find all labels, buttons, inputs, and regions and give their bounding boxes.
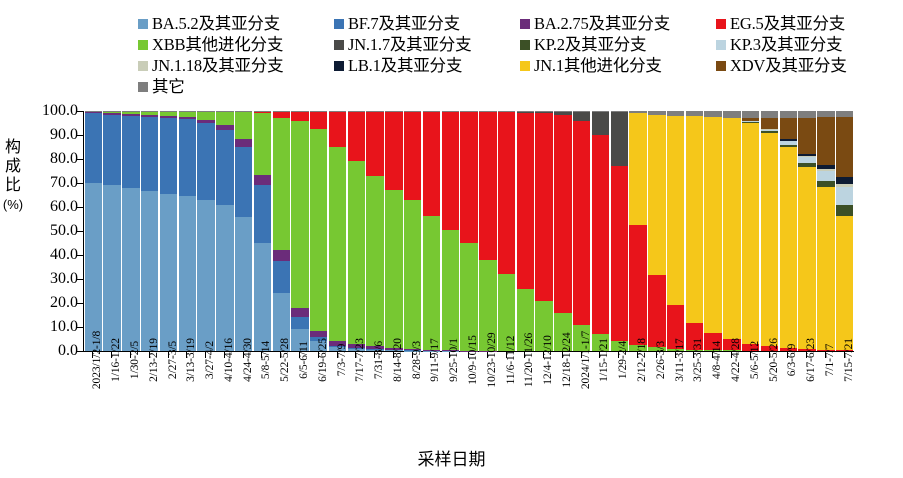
y-tick-label: 60.0: [50, 199, 78, 215]
x-axis-title: 采样日期: [0, 445, 903, 470]
legend-label-jn17: JN.1.7及其亚分支: [348, 36, 471, 53]
bar-column[interactable]: [122, 111, 139, 351]
legend-label-lb1: LB.1及其亚分支: [348, 57, 462, 74]
bar-segment-xdv: [817, 117, 834, 165]
legend-swatch-lb1-icon: [334, 61, 344, 71]
bar-segment-xbb: [291, 121, 308, 308]
bar-column[interactable]: [329, 111, 346, 351]
y-tick-label: 0.0: [58, 343, 78, 359]
legend-label-jn118: JN.1.18及其亚分支: [152, 57, 283, 74]
legend-swatch-eg5-icon: [716, 19, 726, 29]
bar-column[interactable]: [742, 111, 759, 351]
x-label-cell: 6/19-6/25: [308, 360, 327, 448]
legend-label-jn1: JN.1其他进化分支: [534, 57, 662, 74]
x-label-cell: 5/8-5/14: [252, 360, 271, 448]
x-label-cell: 5/20-5/26: [759, 360, 778, 448]
bar-segment-eg5: [517, 113, 534, 289]
bar-segment-xdv: [836, 117, 853, 177]
bar-column[interactable]: [197, 111, 214, 351]
x-label-cell: 3/25-3/31: [684, 360, 703, 448]
bar-column[interactable]: [780, 111, 797, 351]
legend-item-xbb[interactable]: XBB其他进化分支: [138, 34, 334, 55]
bar-segment-ba52: [216, 205, 233, 351]
bar-segment-ba52: [235, 217, 252, 351]
x-label-cell: 5/6-5/12: [740, 360, 759, 448]
legend-label-kp3: KP.3及其亚分支: [730, 36, 842, 53]
bar-segment-eg5: [611, 166, 628, 341]
bar-segment-ba275: [254, 175, 271, 186]
x-label-cell: 8/14-8/20: [384, 360, 403, 448]
bar-segment-jn1: [629, 113, 646, 225]
legend-swatch-ba275-icon: [520, 19, 530, 29]
x-label-cell: 7/31-8/6: [365, 360, 384, 448]
legend-swatch-xbb-icon: [138, 40, 148, 50]
legend-item-ba52[interactable]: BA.5.2及其亚分支: [138, 13, 334, 34]
legend-label-other: 其它: [152, 78, 185, 95]
bar-column[interactable]: [592, 111, 609, 351]
y-tick-label: 30.0: [50, 271, 78, 287]
bar-segment-eg5: [535, 113, 552, 300]
bar-segment-ba275: [291, 308, 308, 317]
y-tick-label: 70.0: [50, 175, 78, 191]
x-label-cell: 3/11-3/17: [665, 360, 684, 448]
x-label-cell: 1/16-1/22: [102, 360, 121, 448]
legend-swatch-bf7-icon: [334, 19, 344, 29]
bar-segment-eg5: [348, 112, 365, 161]
bar-column[interactable]: [460, 111, 477, 351]
x-label-cell: 7/17-7/23: [346, 360, 365, 448]
bar-segment-other: [761, 111, 778, 118]
bar-column[interactable]: [798, 111, 815, 351]
bar-segment-ba275: [235, 139, 252, 147]
bar-column[interactable]: [704, 111, 721, 351]
bar-column[interactable]: [235, 111, 252, 351]
x-label-cell: 2/26-3/3: [646, 360, 665, 448]
x-label-cell: 5/22-5/28: [271, 360, 290, 448]
bar-segment-xbb: [197, 112, 214, 120]
x-label-cell: 6/17-6/23: [797, 360, 816, 448]
x-label-cell: 7/1-7/7: [815, 360, 834, 448]
bar-segment-eg5: [442, 112, 459, 230]
bar-segment-xbb: [310, 129, 327, 331]
bar-segment-xbb: [329, 147, 346, 341]
legend-item-xdv[interactable]: XDV及其亚分支: [716, 55, 898, 76]
bar-segment-jn1: [780, 147, 797, 349]
y-axis-title-text: 构成比: [5, 139, 21, 194]
bar-segment-jn1: [836, 216, 853, 350]
bar-segment-bf7: [235, 147, 252, 217]
legend-item-jn118[interactable]: JN.1.18及其亚分支: [138, 55, 334, 76]
bar-segment-jn1: [761, 133, 778, 347]
bar-segment-ba52: [103, 185, 120, 351]
y-axis-title: 构成比 (%): [2, 138, 24, 214]
legend-label-xdv: XDV及其亚分支: [730, 57, 847, 74]
bar-segment-jn1: [686, 116, 703, 323]
x-label-cell: 6/3-6/9: [778, 360, 797, 448]
bar-segment-xbb: [385, 190, 402, 348]
legend-label-ba275: BA.2.75及其亚分支: [534, 15, 670, 32]
bar-segment-ba52: [141, 191, 158, 351]
bar-segment-eg5: [310, 112, 327, 129]
bar-column[interactable]: [348, 111, 365, 351]
x-tick-label: 7/15-7/21: [844, 338, 856, 382]
bar-column[interactable]: [216, 111, 233, 351]
bar-segment-kp2: [836, 205, 853, 216]
y-tick-label: 50.0: [50, 223, 78, 239]
legend-swatch-ba52-icon: [138, 19, 148, 29]
bar-column[interactable]: [629, 111, 646, 351]
bar-segment-jn1: [742, 123, 759, 344]
bar-column[interactable]: [310, 111, 327, 351]
x-label-cell: 1/30-2/5: [121, 360, 140, 448]
bar-column[interactable]: [273, 111, 290, 351]
y-axis-tick-labels: 100.090.080.070.060.050.040.030.020.010.…: [22, 103, 78, 359]
bar-segment-eg5: [592, 135, 609, 334]
bar-segment-eg5: [329, 112, 346, 147]
bar-segment-eg5: [366, 112, 383, 176]
x-axis-tick-labels: 2023/1/2-1/81/16-1/221/30-2/52/13-2/192/…: [83, 360, 853, 448]
y-tick-label: 80.0: [50, 151, 78, 167]
bar-column[interactable]: [366, 111, 383, 351]
legend-item-kp3[interactable]: KP.3及其亚分支: [716, 34, 898, 55]
bar-segment-eg5: [554, 115, 571, 313]
bar-column[interactable]: [836, 111, 853, 351]
x-label-cell: 3/13-3/19: [177, 360, 196, 448]
x-label-cell: 9/25-10/1: [440, 360, 459, 448]
bar-column[interactable]: [686, 111, 703, 351]
bar-segment-bf7: [291, 317, 308, 329]
bar-segment-eg5: [423, 112, 440, 215]
x-label-cell: 4/22-4/28: [722, 360, 741, 448]
bar-segment-jn1: [798, 167, 815, 349]
plot-area: [83, 111, 854, 352]
bar-segment-jn1: [817, 187, 834, 350]
bar-column[interactable]: [179, 111, 196, 351]
bar-segment-ba52: [254, 243, 271, 351]
bar-segment-other: [780, 111, 797, 118]
bar-segment-jn17: [611, 112, 628, 166]
y-tick-label: 100.0: [42, 103, 78, 119]
bar-column[interactable]: [404, 111, 421, 351]
bar-segment-kp3: [836, 187, 853, 205]
bar-segment-ba52: [85, 183, 102, 351]
x-label-cell: 6/5-6/11: [290, 360, 309, 448]
x-label-cell: 2024/1/1-1/7: [571, 360, 590, 448]
bar-column[interactable]: [254, 111, 271, 351]
x-label-cell: 4/8-4/14: [703, 360, 722, 448]
bar-segment-xbb: [423, 216, 440, 350]
bar-column[interactable]: [141, 111, 158, 351]
legend-swatch-jn1-icon: [520, 61, 530, 71]
x-label-cell: 3/27-4/2: [196, 360, 215, 448]
x-label-cell: 2/13-2/19: [139, 360, 158, 448]
y-tick-label: 40.0: [50, 247, 78, 263]
bar-segment-eg5: [460, 112, 477, 242]
bar-segment-xdv: [780, 118, 797, 140]
bar-segment-jn1: [723, 118, 740, 339]
legend-item-jn1[interactable]: JN.1其他进化分支: [520, 55, 716, 76]
bar-column[interactable]: [817, 111, 834, 351]
bar-segment-ba52: [179, 196, 196, 351]
bar-segment-lb1: [836, 177, 853, 184]
x-label-cell: 9/11-9/17: [421, 360, 440, 448]
bar-segment-jn17: [573, 112, 590, 120]
bar-column[interactable]: [535, 111, 552, 351]
bar-column[interactable]: [291, 111, 308, 351]
bar-segment-xbb: [216, 112, 233, 125]
legend-swatch-other-icon: [138, 82, 148, 92]
bar-segment-eg5: [573, 121, 590, 325]
bar-column[interactable]: [517, 111, 534, 351]
bar-segment-xbb: [404, 200, 421, 349]
legend-item-eg5[interactable]: EG.5及其亚分支: [716, 13, 898, 34]
legend-label-bf7: BF.7及其亚分支: [348, 15, 460, 32]
bar-column[interactable]: [667, 111, 684, 351]
legend-swatch-jn118-icon: [138, 61, 148, 71]
bar-column[interactable]: [648, 111, 665, 351]
x-label-cell: 1/15-1/21: [590, 360, 609, 448]
x-label-cell: 4/10-4/16: [214, 360, 233, 448]
bar-segment-eg5: [648, 275, 665, 347]
bar-segment-jn1: [667, 116, 684, 306]
bar-segment-xdv: [761, 118, 778, 128]
stacked-bars: [84, 111, 854, 351]
bar-column[interactable]: [385, 111, 402, 351]
legend-item-ba275[interactable]: BA.2.75及其亚分支: [520, 13, 716, 34]
legend-item-other[interactable]: 其它: [138, 76, 334, 97]
legend-swatch-xdv-icon: [716, 61, 726, 71]
bar-column[interactable]: [723, 111, 740, 351]
bar-segment-xbb: [366, 176, 383, 346]
x-label-cell: 11/20-11/26: [515, 360, 534, 448]
x-label-cell: 10/9-10/15: [459, 360, 478, 448]
legend-label-kp2: KP.2及其亚分支: [534, 36, 646, 53]
bar-segment-eg5: [629, 225, 646, 345]
bar-segment-eg5: [479, 112, 496, 259]
x-label-cell: 8/28-9/3: [402, 360, 421, 448]
legend-label-eg5: EG.5及其亚分支: [730, 15, 845, 32]
bar-column[interactable]: [442, 111, 459, 351]
x-label-cell: 12/18-12/24: [553, 360, 572, 448]
bar-segment-xbb: [442, 230, 459, 350]
bar-column[interactable]: [761, 111, 778, 351]
bar-column[interactable]: [85, 111, 102, 351]
x-label-cell: 2/27-3/5: [158, 360, 177, 448]
x-label-cell: 10/23-10/29: [477, 360, 496, 448]
bar-segment-ba275: [273, 250, 290, 261]
x-label-cell: 12/4-12/10: [534, 360, 553, 448]
x-label-cell: 2/12-2/18: [628, 360, 647, 448]
bar-column[interactable]: [611, 111, 628, 351]
bar-segment-xbb: [254, 113, 271, 174]
legend-item-lb1[interactable]: LB.1及其亚分支: [334, 55, 520, 76]
bar-segment-bf7: [179, 119, 196, 196]
bar-segment-ba52: [197, 200, 214, 351]
bar-segment-bf7: [197, 123, 214, 200]
y-tick-label: 90.0: [50, 127, 78, 143]
bar-segment-eg5: [404, 112, 421, 200]
bar-segment-bf7: [85, 113, 102, 183]
bar-column[interactable]: [423, 111, 440, 351]
bar-segment-ba52: [160, 194, 177, 351]
bar-column[interactable]: [554, 111, 571, 351]
bar-segment-bf7: [141, 117, 158, 191]
legend-label-ba52: BA.5.2及其亚分支: [152, 15, 280, 32]
bar-column[interactable]: [103, 111, 120, 351]
bar-segment-jn1: [648, 115, 665, 276]
bar-segment-eg5: [498, 112, 515, 274]
x-label-cell: 11/6-11/12: [496, 360, 515, 448]
y-tick-label: 20.0: [50, 295, 78, 311]
legend-swatch-kp2-icon: [520, 40, 530, 50]
bar-segment-xbb: [273, 118, 290, 250]
legend-item-kp2[interactable]: KP.2及其亚分支: [520, 34, 716, 55]
bar-segment-xdv: [798, 118, 815, 154]
bar-segment-bf7: [216, 130, 233, 204]
legend-item-bf7[interactable]: BF.7及其亚分支: [334, 13, 520, 34]
x-label-cell: 7/15-7/21: [834, 360, 853, 448]
chart-legend: BA.5.2及其亚分支BF.7及其亚分支BA.2.75及其亚分支EG.5及其亚分…: [138, 13, 898, 95]
legend-item-jn17[interactable]: JN.1.7及其亚分支: [334, 34, 520, 55]
x-label-cell: 4/24-4/30: [233, 360, 252, 448]
bar-segment-bf7: [103, 115, 120, 186]
bar-segment-jn1: [704, 117, 721, 333]
bar-segment-bf7: [273, 261, 290, 293]
bar-column[interactable]: [573, 111, 590, 351]
bar-segment-ba52: [122, 188, 139, 351]
legend-label-xbb: XBB其他进化分支: [152, 36, 283, 53]
bar-segment-xbb: [235, 112, 252, 139]
bar-column[interactable]: [498, 111, 515, 351]
legend-swatch-jn17-icon: [334, 40, 344, 50]
bar-column[interactable]: [160, 111, 177, 351]
bar-segment-bf7: [254, 185, 271, 243]
y-tick-label: 10.0: [50, 319, 78, 335]
bar-segment-kp3: [817, 171, 834, 181]
y-axis-unit: (%): [3, 195, 23, 214]
legend-swatch-kp3-icon: [716, 40, 726, 50]
bar-segment-eg5: [385, 112, 402, 190]
bar-segment-jn17: [592, 112, 609, 135]
bar-segment-bf7: [122, 116, 139, 188]
x-label-cell: 1/29-2/4: [609, 360, 628, 448]
bar-segment-eg5: [291, 112, 308, 121]
bar-column[interactable]: [479, 111, 496, 351]
x-label-cell: 2023/1/2-1/8: [83, 360, 102, 448]
bar-segment-xbb: [348, 161, 365, 344]
bar-segment-bf7: [160, 118, 177, 194]
x-label-cell: 7/3-7/9: [327, 360, 346, 448]
